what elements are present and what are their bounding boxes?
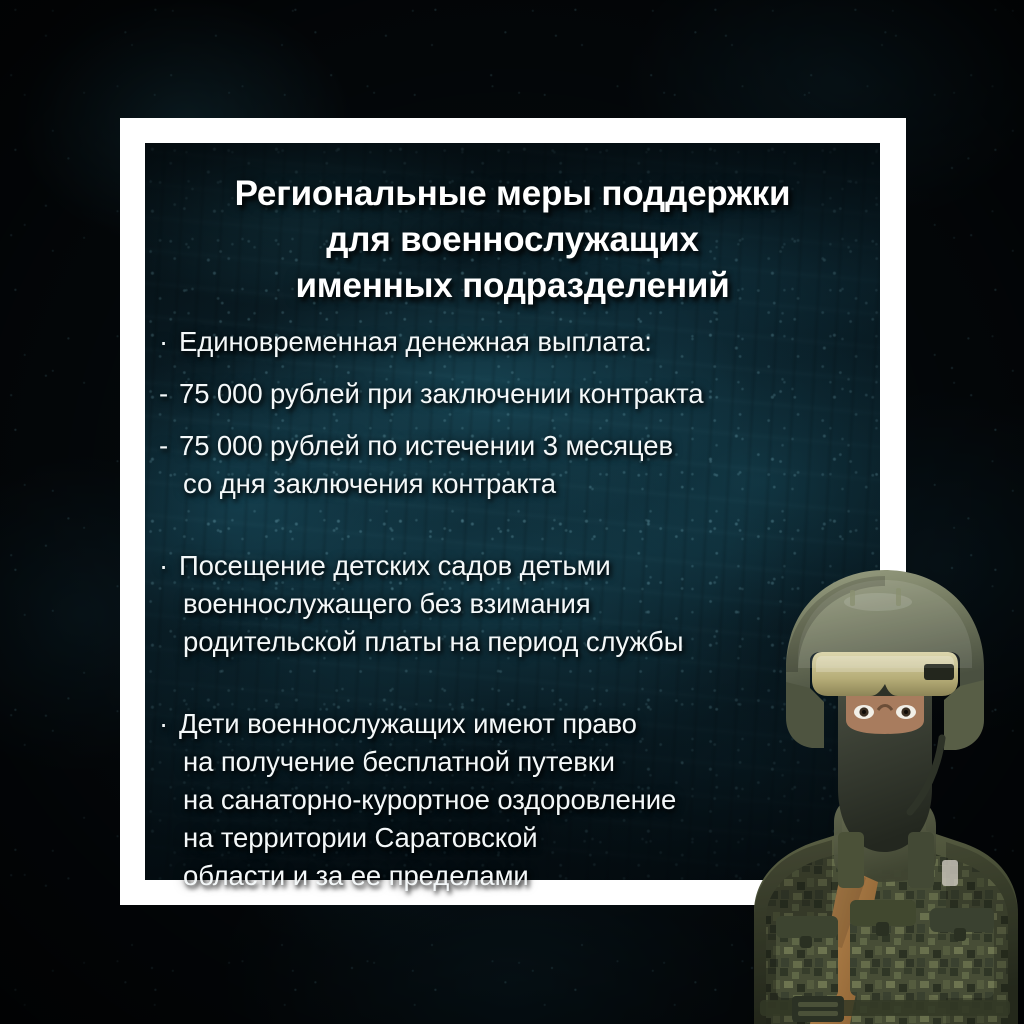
benefit-line-text: Единовременная денежная выплата:: [179, 326, 652, 357]
benefit-group: -75 000 рублей по истечении 3 месяцевсо …: [159, 427, 879, 503]
benefit-line-text: Посещение детских садов детьми: [179, 550, 611, 581]
bullet-dot-icon: ·: [159, 705, 179, 743]
benefit-line-continuation: со дня заключения контракта: [159, 465, 879, 503]
soldier-photo: [746, 560, 1024, 1024]
poster-root: Региональные меры поддержки для военносл…: [0, 0, 1024, 1024]
bullet-dot-icon: ·: [159, 323, 179, 361]
page-title: Региональные меры поддержки для военносл…: [145, 171, 880, 309]
benefit-line-marker: ·Единовременная денежная выплата:: [159, 323, 879, 361]
benefit-line-text: военнослужащего без взимания: [183, 588, 591, 619]
benefit-line-text: Дети военнослужащих имеют право: [179, 708, 637, 739]
benefit-group: ·Единовременная денежная выплата:: [159, 323, 879, 361]
benefit-line-text: на получение бесплатной путевки: [183, 746, 615, 777]
bullet-dot-icon: ·: [159, 547, 179, 585]
bullet-dash-icon: -: [159, 427, 179, 465]
benefit-line-text: родительской платы на период службы: [183, 626, 683, 657]
bullet-dash-icon: -: [159, 375, 179, 413]
benefit-line-text: на территории Саратовской: [183, 822, 537, 853]
benefit-line-text: 75 000 рублей при заключении контракта: [179, 378, 703, 409]
benefit-line-marker: -75 000 рублей при заключении контракта: [159, 375, 879, 413]
benefit-group: -75 000 рублей при заключении контракта: [159, 375, 879, 413]
benefit-line-text: со дня заключения контракта: [183, 468, 556, 499]
benefit-line-text: области и за ее пределами: [183, 860, 529, 891]
benefit-line-marker: -75 000 рублей по истечении 3 месяцев: [159, 427, 879, 465]
benefit-line-text: 75 000 рублей по истечении 3 месяцев: [179, 430, 673, 461]
benefit-line-text: на санаторно-курортное оздоровление: [183, 784, 676, 815]
